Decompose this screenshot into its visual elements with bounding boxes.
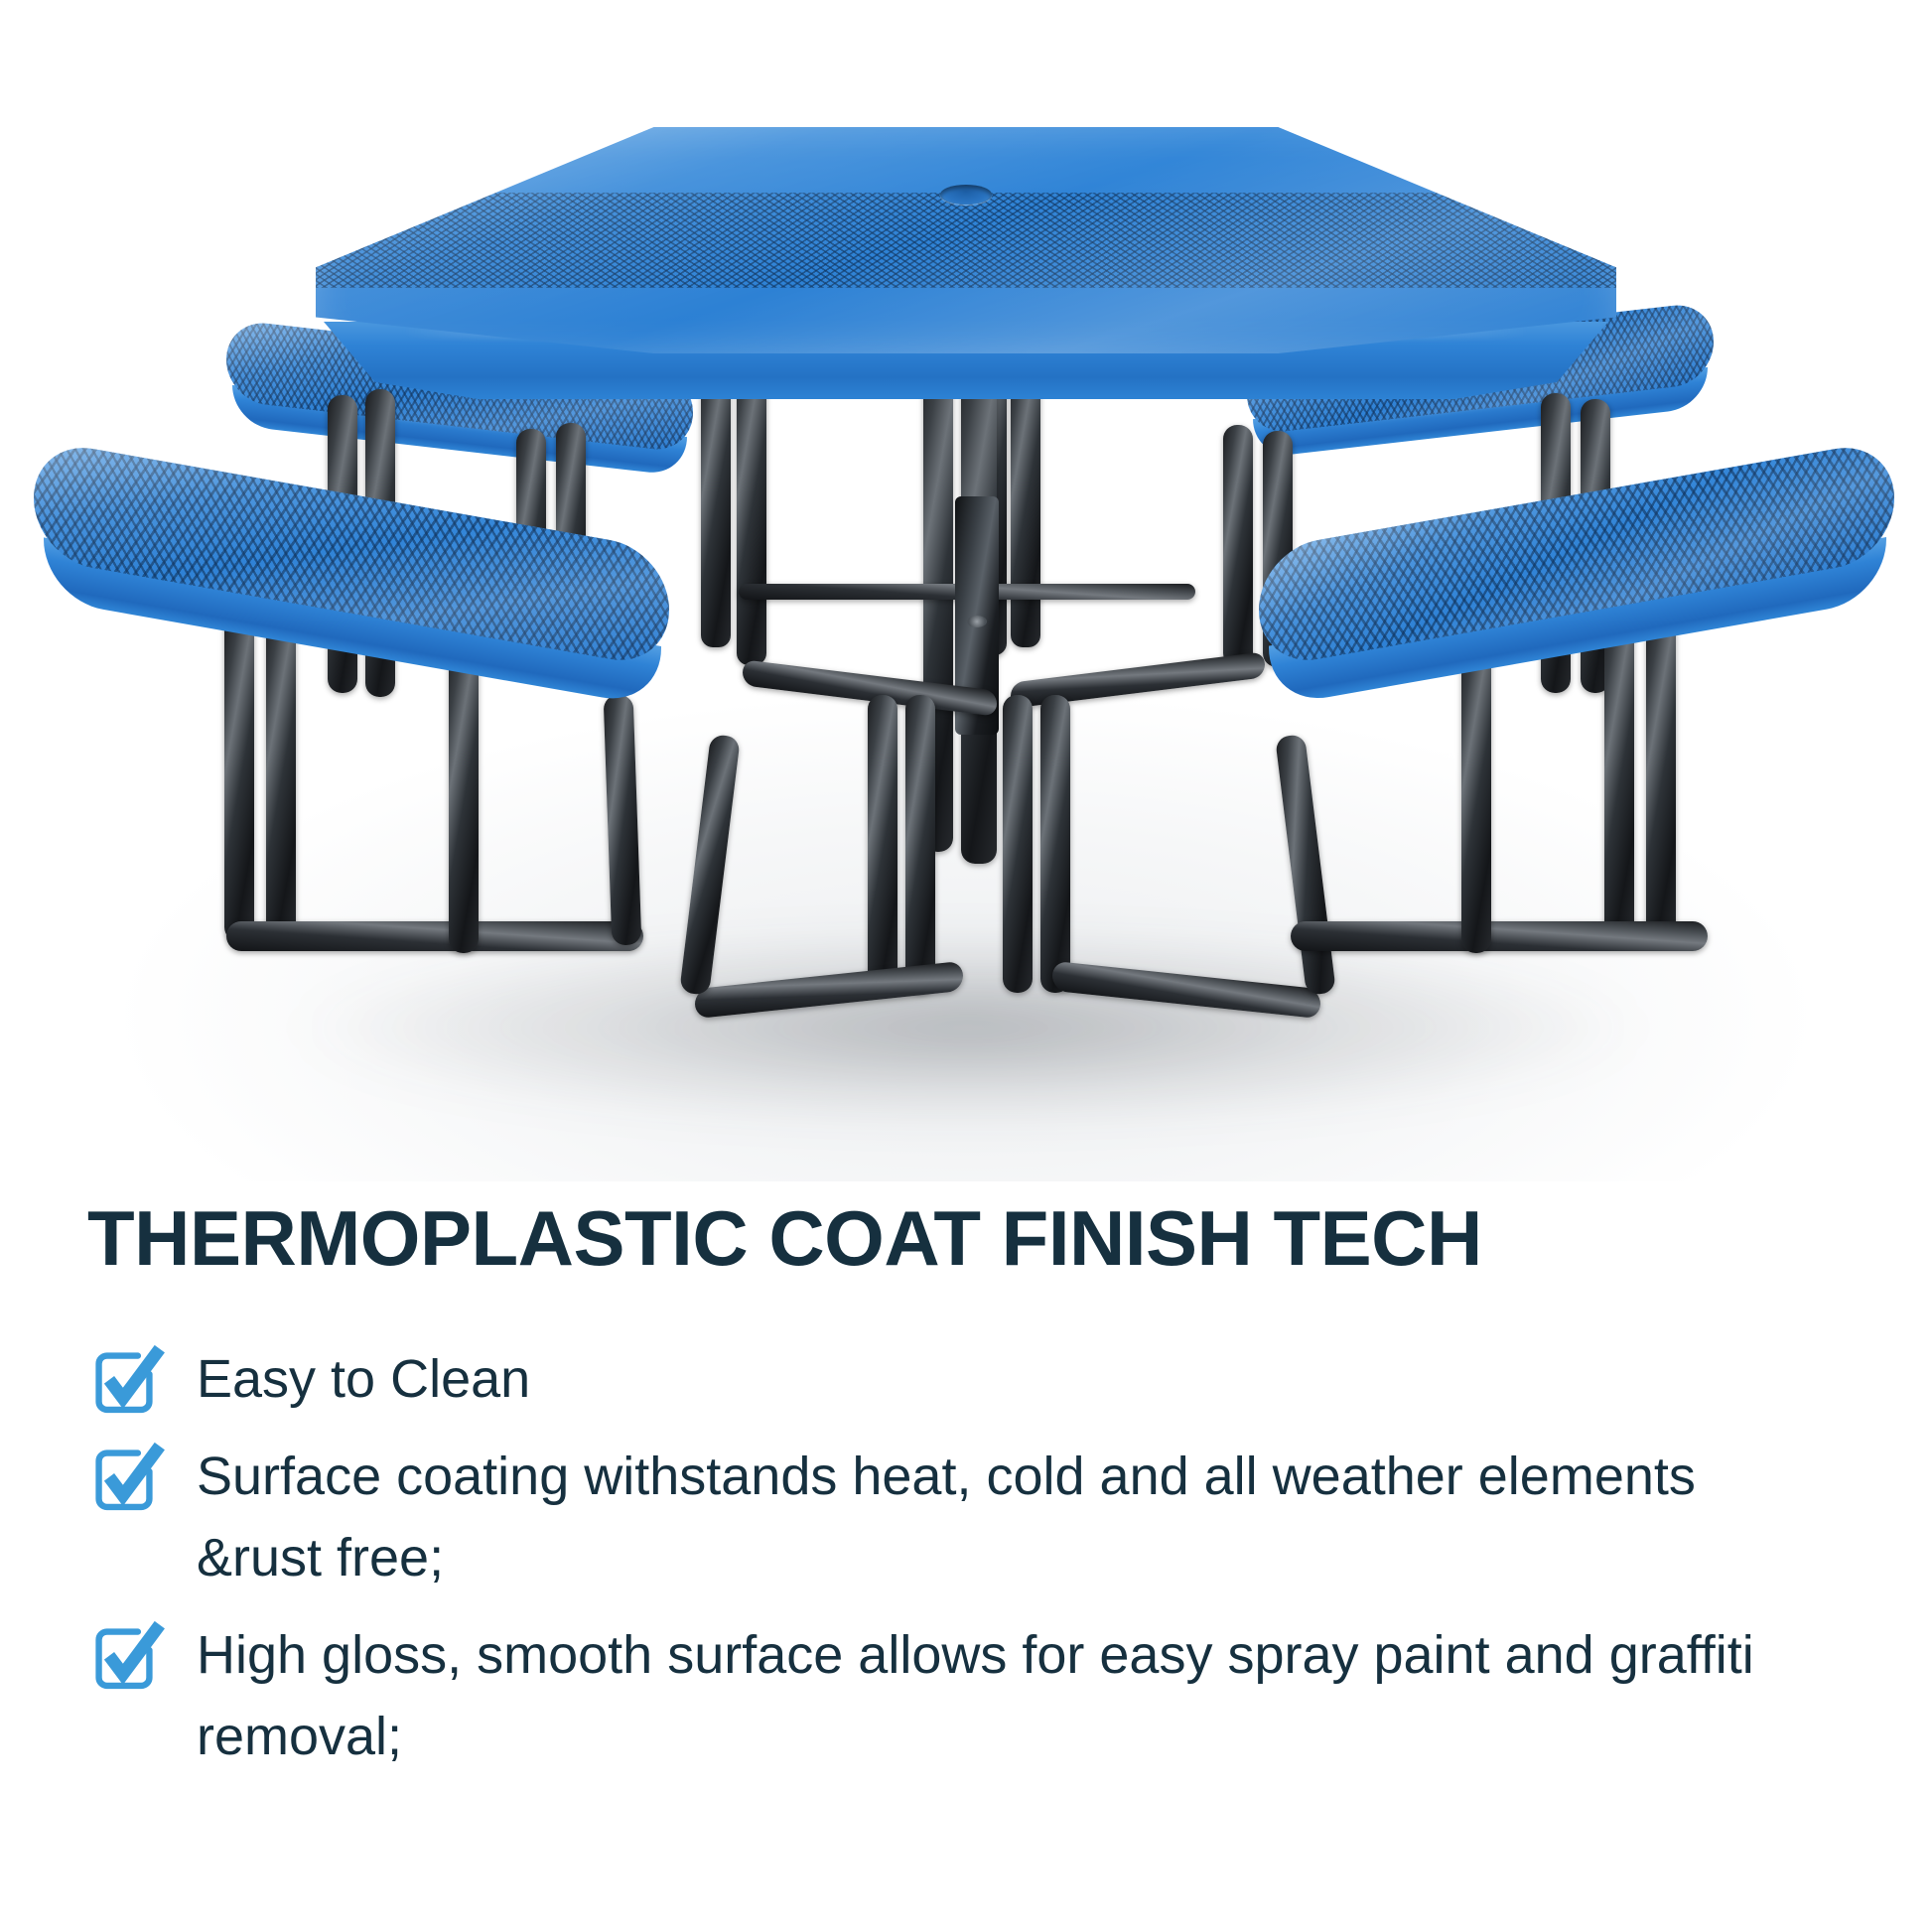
center-front-leg (1040, 695, 1070, 993)
front-right-foot (1291, 921, 1708, 951)
checkbox-check-icon (87, 1442, 161, 1515)
front-left-foot (226, 921, 643, 951)
front-right-leg-inner (1604, 608, 1634, 941)
product-infographic-page: THERMOPLASTIC COAT FINISH TECH Easy to C… (0, 0, 1932, 1932)
umbrella-hole (940, 185, 992, 205)
list-item: High gloss, smooth surface allows for ea… (87, 1614, 1845, 1777)
front-right-leg-outer (1646, 614, 1676, 941)
front-right-center-leg (1461, 635, 1491, 953)
product-image (0, 0, 1932, 1181)
front-left-leg-outer (224, 614, 254, 941)
checkbox-check-icon (87, 1344, 161, 1418)
page-title: THERMOPLASTIC COAT FINISH TECH (87, 1199, 1845, 1277)
center-front-foot (1052, 961, 1320, 1019)
list-item: Surface coating withstands heat, cold an… (87, 1436, 1845, 1598)
front-left-leg-rear (604, 695, 642, 946)
marketing-copy: THERMOPLASTIC COAT FINISH TECH Easy to C… (0, 1181, 1932, 1793)
center-front-leg (868, 695, 897, 993)
center-front-leg (1003, 695, 1033, 993)
front-left-center-leg (449, 635, 479, 953)
feature-list: Easy to Clean Surface coating withstands… (87, 1338, 1845, 1777)
feature-text: Easy to Clean (197, 1338, 530, 1420)
front-left-leg-inner (266, 608, 296, 941)
table-top (316, 127, 1616, 395)
center-front-leg-angled (679, 734, 741, 996)
center-front-leg-angled (1275, 734, 1336, 996)
center-front-foot (695, 961, 963, 1019)
list-item: Easy to Clean (87, 1338, 1845, 1420)
table-top-surface (316, 127, 1616, 353)
checkbox-check-icon (87, 1620, 161, 1694)
feature-text: Surface coating withstands heat, cold an… (197, 1436, 1825, 1598)
leg-tube (1223, 425, 1253, 667)
center-front-leg (905, 695, 935, 993)
feature-text: High gloss, smooth surface allows for ea… (197, 1614, 1825, 1777)
mesh-texture (316, 193, 1616, 288)
